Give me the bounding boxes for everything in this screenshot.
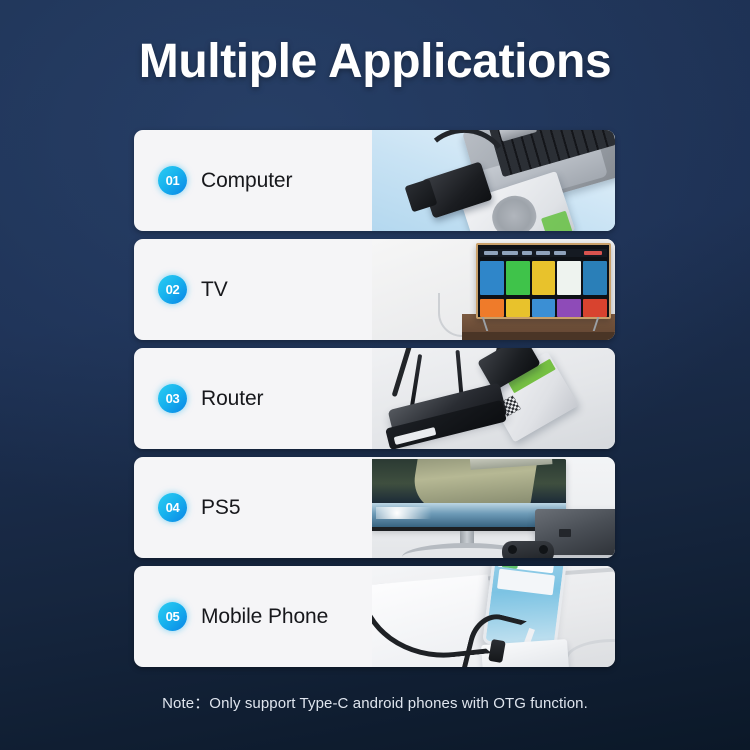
list-item[interactable]: 02 TV	[134, 239, 615, 340]
wifi-router-with-hard-drive-adapter-photo	[372, 348, 615, 449]
applications-list: 01 Computer 02 TV	[134, 130, 615, 675]
list-item-label: TV	[201, 278, 228, 302]
list-item[interactable]: 05 Mobile Phone	[134, 566, 615, 667]
list-item-text-area: 05 Mobile Phone	[134, 566, 372, 667]
promo-banner: Multiple Applications 01 Computer	[0, 0, 750, 750]
list-item-number-badge: 04	[158, 493, 187, 522]
list-item-number-badge: 01	[158, 166, 187, 195]
list-item-text-area: 04 PS5	[134, 457, 372, 558]
laptop-with-sata-adapter-and-hard-drive-photo	[372, 130, 615, 231]
list-item[interactable]: 03 Router	[134, 348, 615, 449]
phone-on-stand-with-usb-c-cable-photo	[372, 566, 615, 667]
list-item-text-area: 03 Router	[134, 348, 372, 449]
list-item[interactable]: 01 Computer	[134, 130, 615, 231]
list-item-label: Computer	[201, 169, 292, 193]
monitor-with-game-console-and-controller-photo	[372, 457, 615, 558]
list-item-number-badge: 03	[158, 384, 187, 413]
list-item[interactable]: 04 PS5	[134, 457, 615, 558]
list-item-number-badge: 02	[158, 275, 187, 304]
list-item-text-area: 01 Computer	[134, 130, 372, 231]
list-item-label: PS5	[201, 496, 240, 520]
list-item-label: Mobile Phone	[201, 605, 328, 629]
list-item-label: Router	[201, 387, 263, 411]
page-title: Multiple Applications	[0, 36, 750, 88]
list-item-text-area: 02 TV	[134, 239, 372, 340]
smart-tv-on-wooden-console-photo	[372, 239, 615, 340]
footer-note: Note：Only support Type-C android phones …	[0, 692, 750, 713]
list-item-number-badge: 05	[158, 602, 187, 631]
